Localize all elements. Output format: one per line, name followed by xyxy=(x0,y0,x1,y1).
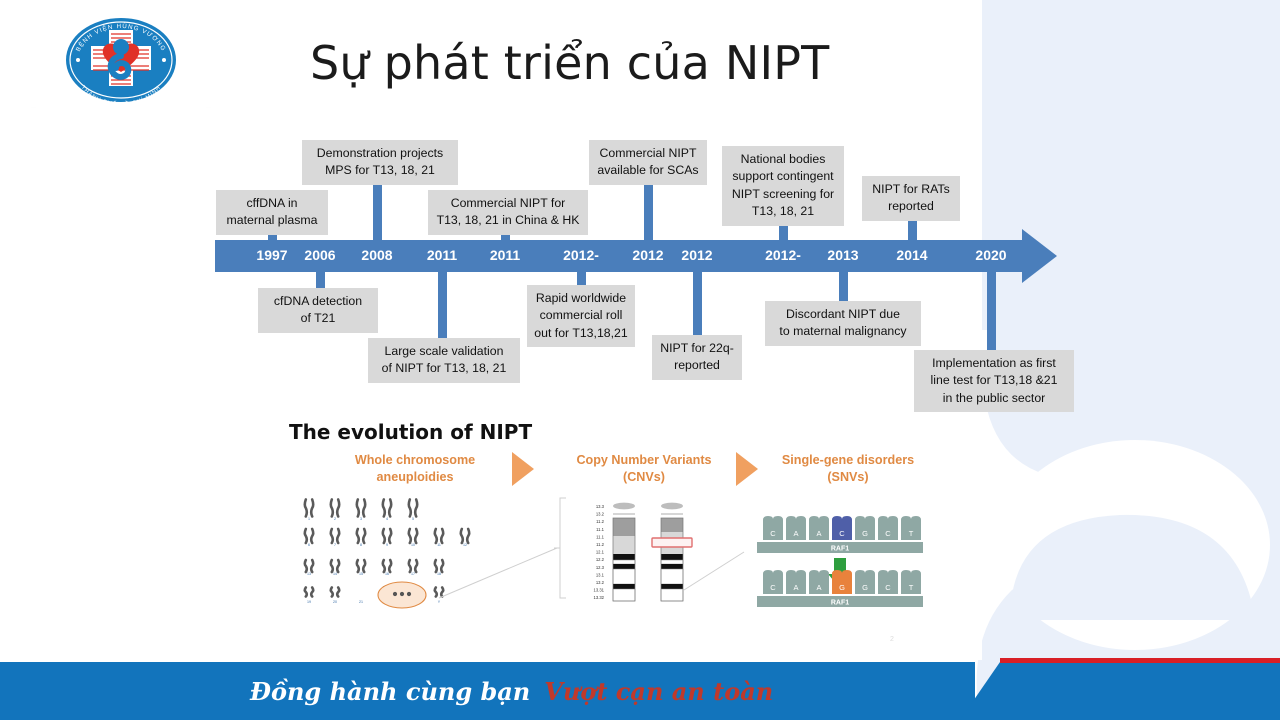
ideogram-band-13.2: 13.2 xyxy=(596,580,605,585)
timeline-year-8: 2012- xyxy=(765,247,801,263)
figure-stage-1: Copy Number Variants (CNVs) xyxy=(556,452,732,486)
karyotype-label-Y: Y xyxy=(438,600,441,604)
chromosome-6 xyxy=(305,529,313,543)
ideogram-band-12.1: 12.1 xyxy=(596,550,605,555)
snv-base-label-4: G xyxy=(862,529,868,538)
ideogram-band-13.3: 13.3 xyxy=(596,504,605,509)
karyotype-label-2: 2 xyxy=(334,517,336,521)
figure-stage-0: Whole chromosome aneuploidies xyxy=(330,452,500,486)
ideogram-band-11.2: 11.2 xyxy=(596,542,605,547)
timeline-year-7: 2012 xyxy=(681,247,712,263)
karyotype-label-9: 9 xyxy=(386,543,388,547)
timeline-year-9: 2013 xyxy=(827,247,858,263)
chromosome-9 xyxy=(383,529,391,543)
ideogram-band-11.2: 11.2 xyxy=(596,519,605,524)
chromosome-1 xyxy=(305,500,313,517)
hung-vuong-hospital-logo: BỆNH VIỆN HÙNG VƯƠNG THÀNH PHỐ HỒ CHÍ MI… xyxy=(56,14,186,106)
snv-base-label-1: A xyxy=(793,529,798,538)
chromosome-5 xyxy=(409,500,417,517)
karyotype-label-8: 8 xyxy=(360,543,362,547)
karyotype-label-11: 11 xyxy=(437,543,441,547)
timeline-year-11: 2020 xyxy=(975,247,1006,263)
snv-base-label-2: A xyxy=(816,529,821,538)
chromosome-Y xyxy=(435,588,443,597)
ideogram-chromosome-a xyxy=(613,503,635,601)
karyotype-label-1: 1 xyxy=(308,517,310,521)
timeline-event-above-4: National bodies support contingent NIPT … xyxy=(722,146,844,226)
chromosome-4 xyxy=(383,500,391,517)
timeline-year-6: 2012 xyxy=(632,247,663,263)
ideogram-band-12.2: 12.2 xyxy=(596,557,605,562)
gene-label-top: RAF1 xyxy=(831,546,849,553)
ideogram-band-13.31: 13.31 xyxy=(594,588,605,593)
page-title: Sự phát triển của NIPT xyxy=(310,36,829,90)
timeline-stem-above-3 xyxy=(644,178,653,242)
chromosome-12 xyxy=(461,529,469,543)
snv-base-label-3: G xyxy=(839,583,845,592)
chromosome-3 xyxy=(357,500,365,517)
timeline-year-2: 2008 xyxy=(361,247,392,263)
karyotype-label-20: 20 xyxy=(333,600,337,604)
timeline-event-above-1: Demonstration projects MPS for T13, 18, … xyxy=(302,140,458,185)
chromosome-19 xyxy=(305,588,313,597)
timeline-event-below-3: NIPT for 22q- reported xyxy=(652,335,742,380)
karyotype-label-10: 10 xyxy=(411,543,415,547)
karyotype-label-17: 17 xyxy=(411,572,415,576)
logo-wrap: BỆNH VIỆN HÙNG VƯƠNG THÀNH PHỐ HỒ CHÍ MI… xyxy=(56,14,186,106)
deletion-marker xyxy=(652,538,692,547)
karyotype-label-5: 5 xyxy=(412,517,414,521)
ideogram-band-11.1: 11.1 xyxy=(596,527,605,532)
single-nucleotide-variant-panel: CAACGCT RAF1 CAAGGCT RAF1 xyxy=(751,498,929,610)
timeline-event-below-4: Discordant NIPT due to maternal malignan… xyxy=(765,301,921,346)
ideogram-band-11.1: 11.1 xyxy=(596,534,605,539)
snv-base-label-6: T xyxy=(909,529,914,538)
chromosome-20 xyxy=(331,588,339,597)
ideogram-band-13.1: 13.1 xyxy=(596,572,605,577)
snv-base-label-3: C xyxy=(839,529,845,538)
chromosome-10 xyxy=(409,529,417,543)
snv-base-label-5: C xyxy=(885,583,891,592)
gene-label-bottom: RAF1 xyxy=(831,600,849,607)
timeline-event-above-0: cffDNA in maternal plasma xyxy=(216,190,328,235)
chromosome-2 xyxy=(331,500,339,517)
page-number: 2 xyxy=(890,636,894,643)
timeline-stem-below-1 xyxy=(438,271,447,341)
figure-arrow-1 xyxy=(736,452,758,486)
timeline-event-below-5: Implementation as first line test for T1… xyxy=(914,350,1074,412)
timeline-year-1: 2006 xyxy=(304,247,335,263)
snv-base-label-2: A xyxy=(816,583,821,592)
timeline-event-below-2: Rapid worldwide commercial roll out for … xyxy=(527,285,635,347)
karyotype-label-16: 16 xyxy=(385,572,389,576)
figure-arrow-0 xyxy=(512,452,534,486)
ideogram-chromosome-b xyxy=(652,503,692,601)
timeline-year-5: 2012- xyxy=(563,247,599,263)
chromosome-7 xyxy=(331,529,339,543)
snv-base-label-1: A xyxy=(793,583,798,592)
chromosome-18 xyxy=(435,560,443,572)
karyotype-label-15: 15 xyxy=(359,572,363,576)
timeline-event-above-3: Commercial NIPT available for SCAs xyxy=(589,140,707,185)
chromosome-15 xyxy=(357,560,365,572)
banner-slogan-white: Đồng hành cùng bạn xyxy=(250,677,530,706)
ideogram-band-13.32: 13.32 xyxy=(594,595,605,600)
karyotype-label-4: 4 xyxy=(386,517,388,521)
figure-title: The evolution of NIPT xyxy=(289,420,532,444)
karyotype-label-13: 13 xyxy=(307,572,311,576)
karyotype-panel: 12345678910111213141516171819202122XY xyxy=(305,500,469,609)
timeline-event-above-2: Commercial NIPT for T13, 18, 21 in China… xyxy=(428,190,588,235)
karyotype-label-21: 21 xyxy=(359,600,363,604)
snv-base-label-5: C xyxy=(885,529,891,538)
snv-base-label-0: C xyxy=(770,583,776,592)
karyotype-label-12: 12 xyxy=(463,543,467,547)
karyotype-label-14: 14 xyxy=(333,572,337,576)
ideogram-band-13.2: 13.2 xyxy=(596,512,605,517)
timeline-year-4: 2011 xyxy=(490,247,520,263)
ideogram-band-12.3: 12.3 xyxy=(596,565,605,570)
timeline-event-above-5: NIPT for RATs reported xyxy=(862,176,960,221)
karyotype-label-6: 6 xyxy=(308,543,310,547)
snv-base-label-4: G xyxy=(862,583,868,592)
timeline-year-10: 2014 xyxy=(896,247,927,263)
timeline-stem-above-1 xyxy=(373,180,382,242)
chromosome-ideogram-panel: 13.313.211.211.111.111.212.112.212.313.1… xyxy=(554,498,692,601)
snv-base-label-0: C xyxy=(770,529,776,538)
timeline-stem-below-4 xyxy=(839,271,848,303)
chromosome-17 xyxy=(409,560,417,572)
banner-slogan-red: Vượt cạn an toàn xyxy=(544,677,773,706)
karyotype-label-7: 7 xyxy=(334,543,336,547)
chromosome-11 xyxy=(435,529,443,543)
timeline-stem-below-3 xyxy=(693,271,702,339)
banner-slogan: Đồng hành cùng bạnVượt cạn an toàn xyxy=(250,677,773,706)
timeline-year-3: 2011 xyxy=(427,247,457,263)
timeline-event-below-1: Large scale validation of NIPT for T13, … xyxy=(368,338,520,383)
chromosome-16 xyxy=(383,560,391,572)
chromosome-8 xyxy=(357,529,365,543)
karyotype-label-19: 19 xyxy=(307,600,311,604)
timeline-year-0: 1997 xyxy=(256,247,287,263)
snv-base-label-6: T xyxy=(909,583,914,592)
karyotype-label-3: 3 xyxy=(360,517,362,521)
figure-illustrations: 12345678910111213141516171819202122XY 13… xyxy=(289,490,939,625)
figure-stage-2: Single-gene disorders (SNVs) xyxy=(762,452,934,486)
chromosome-14 xyxy=(331,560,339,572)
chromosome-13 xyxy=(305,560,313,572)
karyotype-label-18: 18 xyxy=(437,572,441,576)
timeline-stem-below-5 xyxy=(987,271,996,353)
timeline-event-below-0: cfDNA detection of T21 xyxy=(258,288,378,333)
